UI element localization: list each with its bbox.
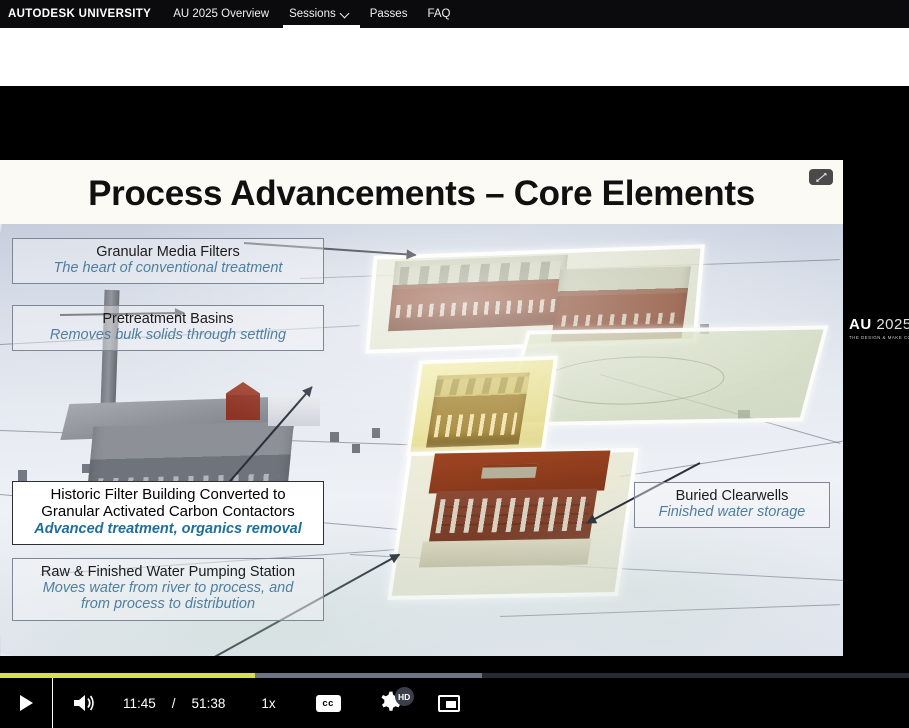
callout-subtext: Advanced treatment, organics removal (23, 521, 313, 537)
nav-item-label: FAQ (427, 8, 450, 20)
player-control-bar: 11:45 / 51:38 1x cc HD (0, 678, 909, 728)
callout-subtext-line-1: Moves water from river to process, and (23, 580, 313, 596)
north-building-east (551, 266, 691, 341)
nav-item-label: Sessions (289, 8, 336, 20)
callout-buried-clearwells: Buried Clearwells Finished water storage (634, 482, 830, 528)
nav-item-sessions[interactable]: Sessions (289, 0, 350, 28)
nav-item-faq[interactable]: FAQ (427, 0, 450, 28)
callout-heading: Buried Clearwells (645, 488, 819, 504)
filter-building-highlight (406, 356, 558, 457)
callout-heading: Raw & Finished Water Pumping Station (23, 564, 313, 580)
callout-heading: Granular Media Filters (23, 244, 313, 260)
au-watermark-tagline: THE DESIGN & MAKE CONFERENCE (849, 335, 909, 340)
callout-raw-finished-pumping-station: Raw & Finished Water Pumping Station Mov… (12, 558, 324, 621)
time-display: 11:45 / 51:38 (123, 696, 225, 711)
slide-title: Process Advancements – Core Elements (0, 174, 843, 214)
expand-arrows-icon[interactable] (809, 169, 833, 185)
quality-badge[interactable]: HD (395, 687, 414, 706)
callout-historic-filter-building: Historic Filter Building Converted to Gr… (12, 481, 324, 545)
red-house (226, 382, 260, 420)
current-time: 11:45 (123, 696, 156, 711)
callout-granular-media-filters: Granular Media Filters The heart of conv… (12, 238, 324, 284)
pump-brick-wall (429, 489, 598, 544)
nav-item-label: Passes (370, 8, 408, 20)
volume-on-icon[interactable] (57, 678, 111, 728)
slide-stage: Process Advancements – Core Elements (0, 160, 843, 656)
north-building-west (388, 255, 568, 332)
au-watermark-year: 2025 (876, 316, 909, 333)
playback-speed-button[interactable]: 1x (261, 696, 275, 711)
time-separator: / (172, 696, 176, 711)
play-icon[interactable] (0, 678, 53, 728)
callout-subtext: Finished water storage (645, 504, 819, 520)
pretreatment-basin-highlight (501, 325, 828, 426)
top-navigation-bar: AUTODESK UNIVERSITY AU 2025 Overview Ses… (0, 0, 909, 28)
callout-subtext: The heart of conventional treatment (23, 260, 313, 276)
au-watermark: AU 2025 THE DESIGN & MAKE CONFERENCE (849, 316, 909, 340)
brand-logo[interactable]: AUTODESK UNIVERSITY (8, 8, 151, 20)
pump-roof (429, 450, 611, 493)
pump-base (419, 539, 592, 568)
callout-subtext-line-2: from process to distribution (23, 596, 313, 612)
callout-heading-line-2: Granular Activated Carbon Contactors (23, 504, 313, 521)
pumping-station-highlight (387, 448, 638, 600)
pump-dormer (481, 464, 537, 479)
callout-subtext: Removes bulk solids through settling (23, 327, 313, 343)
page-background (0, 28, 909, 86)
granular-filter-building (426, 372, 530, 447)
historic-building-roof (60, 396, 301, 440)
au-watermark-title: AU 2025 (849, 316, 909, 333)
chevron-down-icon (341, 10, 350, 19)
callout-heading-line-1: Historic Filter Building Converted to (23, 487, 313, 504)
duration: 51:38 (192, 696, 226, 711)
au-watermark-au: AU (849, 316, 872, 333)
picture-in-picture-icon[interactable] (438, 695, 460, 712)
callout-heading: Pretreatment Basins (23, 311, 313, 327)
closed-captions-icon[interactable]: cc (316, 695, 341, 712)
nav-item-au-2025-overview[interactable]: AU 2025 Overview (173, 0, 269, 28)
video-player[interactable]: Process Advancements – Core Elements (0, 86, 909, 728)
nav-item-label: AU 2025 Overview (173, 8, 269, 20)
pumping-station-building (417, 450, 611, 569)
north-plant-highlight (365, 244, 705, 353)
white-outbuilding (268, 396, 320, 426)
callout-pretreatment-basins: Pretreatment Basins Removes bulk solids … (12, 305, 324, 351)
nav-item-passes[interactable]: Passes (370, 0, 408, 28)
settings-button[interactable]: HD (378, 690, 408, 716)
